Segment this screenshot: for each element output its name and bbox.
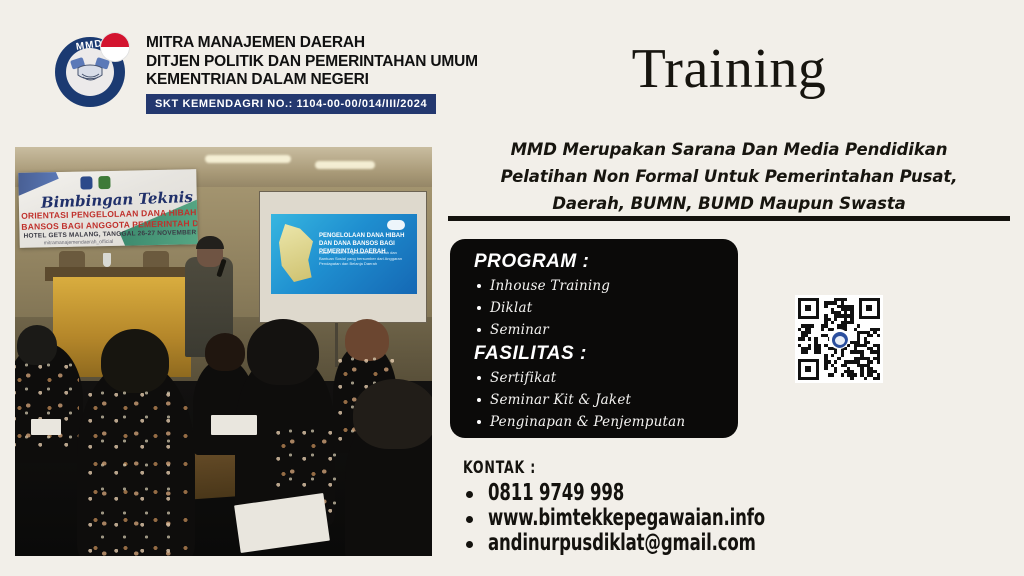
contact-phone-text: 0811 9749 998 <box>488 481 624 506</box>
photo-slide: PENGELOLAAN DANA HIBAH DAN DANA BANSOS B… <box>271 214 417 294</box>
program-list: Inhouse Training Diklat Seminar <box>450 275 738 341</box>
training-poster: MMD MITRA MANAJEMEN DAERAH DITJEN POLITI… <box>0 0 1024 576</box>
contact-email[interactable]: andinurpusdiklat@gmail.com <box>466 531 834 556</box>
divider <box>448 216 1010 221</box>
tagline-line-1: MMD Merupakan Sarana Dan Media Pendidika… <box>448 136 1010 163</box>
program-panel: PROGRAM : Inhouse Training Diklat Semina… <box>450 239 738 438</box>
org-line-3: KEMENTRIAN DALAM NEGERI <box>146 71 478 90</box>
qr-center-logo-icon <box>829 329 849 349</box>
photo-attendee-head <box>205 333 245 371</box>
contact-email-text: andinurpusdiklat@gmail.com <box>488 531 756 556</box>
skt-license-badge: SKT KEMENDAGRI NO.: 1104-00-00/014/III/2… <box>146 94 436 114</box>
fasilitas-heading: FASILITAS : <box>474 343 738 365</box>
photo-batik-pattern <box>85 387 189 556</box>
fasilitas-item: Seminar Kit & Jaket <box>490 389 738 411</box>
banner-seal-icon <box>80 176 92 189</box>
photo-attendee-head <box>247 319 319 385</box>
org-line-2: DITJEN POLITIK DAN PEMERINTAHAN UMUM <box>146 53 478 72</box>
photo-projector-screen: PENGELOLAAN DANA HIBAH DAN DANA BANSOS B… <box>259 191 427 323</box>
photo-ceiling-light <box>315 161 375 169</box>
photo-event-banner: Bimbingan Teknis ORIENTASI PENGELOLAAN D… <box>18 169 198 248</box>
program-item: Inhouse Training <box>490 275 738 297</box>
tagline: MMD Merupakan Sarana Dan Media Pendidika… <box>448 136 1010 217</box>
seminar-photo: Bimbingan Teknis ORIENTASI PENGELOLAAN D… <box>15 147 432 556</box>
photo-batik-pattern <box>15 359 79 454</box>
photo-attendee-head <box>353 379 432 449</box>
organization-name-block: MITRA MANAJEMEN DAERAH DITJEN POLITIK DA… <box>146 28 478 114</box>
tagline-line-2: Pelatihan Non Formal Untuk Pemerintahan … <box>448 163 1010 190</box>
fasilitas-item: Sertifikat <box>490 367 738 389</box>
banner-seal-icon <box>98 176 110 189</box>
photo-glass <box>103 253 111 267</box>
qr-finder-top-right <box>859 298 880 319</box>
organization-header: MMD MITRA MANAJEMEN DAERAH DITJEN POLITI… <box>48 28 438 120</box>
fasilitas-item: Penginapan & Penjemputan <box>490 411 738 433</box>
qr-finder-bottom-left <box>798 359 819 380</box>
contact-label: KONTAK : <box>463 458 536 478</box>
page-title: Training <box>448 38 1010 100</box>
contact-website-text: www.bimtekkepegawaian.info <box>488 506 765 531</box>
fasilitas-list: Sertifikat Seminar Kit & Jaket Penginapa… <box>450 367 738 433</box>
program-heading: PROGRAM : <box>474 251 738 273</box>
photo-paper <box>31 419 61 435</box>
program-item: Seminar <box>490 319 738 341</box>
org-line-1: MITRA MANAJEMEN DAERAH <box>146 34 478 53</box>
program-item: Diklat <box>490 297 738 319</box>
slide-body: Dasar Hukum Pengelolaan Dana Hibah dan B… <box>319 250 411 267</box>
contact-phone[interactable]: 0811 9749 998 <box>466 481 834 506</box>
contact-list: 0811 9749 998 www.bimtekkepegawaian.info… <box>466 481 834 556</box>
qr-code[interactable] <box>795 295 883 383</box>
photo-attendee-head <box>101 329 169 393</box>
photo-ceiling-light <box>205 155 291 163</box>
slide-map-graphic <box>279 224 313 282</box>
slide-logo <box>387 220 405 230</box>
qr-logo-core <box>835 336 845 345</box>
flag-red-band <box>101 33 129 47</box>
mmd-logo-icon: MMD <box>48 28 136 116</box>
banner-instagram-handle: mitramanajemendaerah_official <box>44 239 114 246</box>
qr-code-matrix <box>798 298 880 380</box>
photo-paper <box>211 415 257 435</box>
indonesia-flag-icon <box>100 32 130 62</box>
tagline-line-3: Daerah, BUMN, BUMD Maupun Swasta <box>448 190 1010 217</box>
qr-finder-top-left <box>798 298 819 319</box>
flag-white-band <box>101 47 129 61</box>
contact-website[interactable]: www.bimtekkepegawaian.info <box>466 506 834 531</box>
